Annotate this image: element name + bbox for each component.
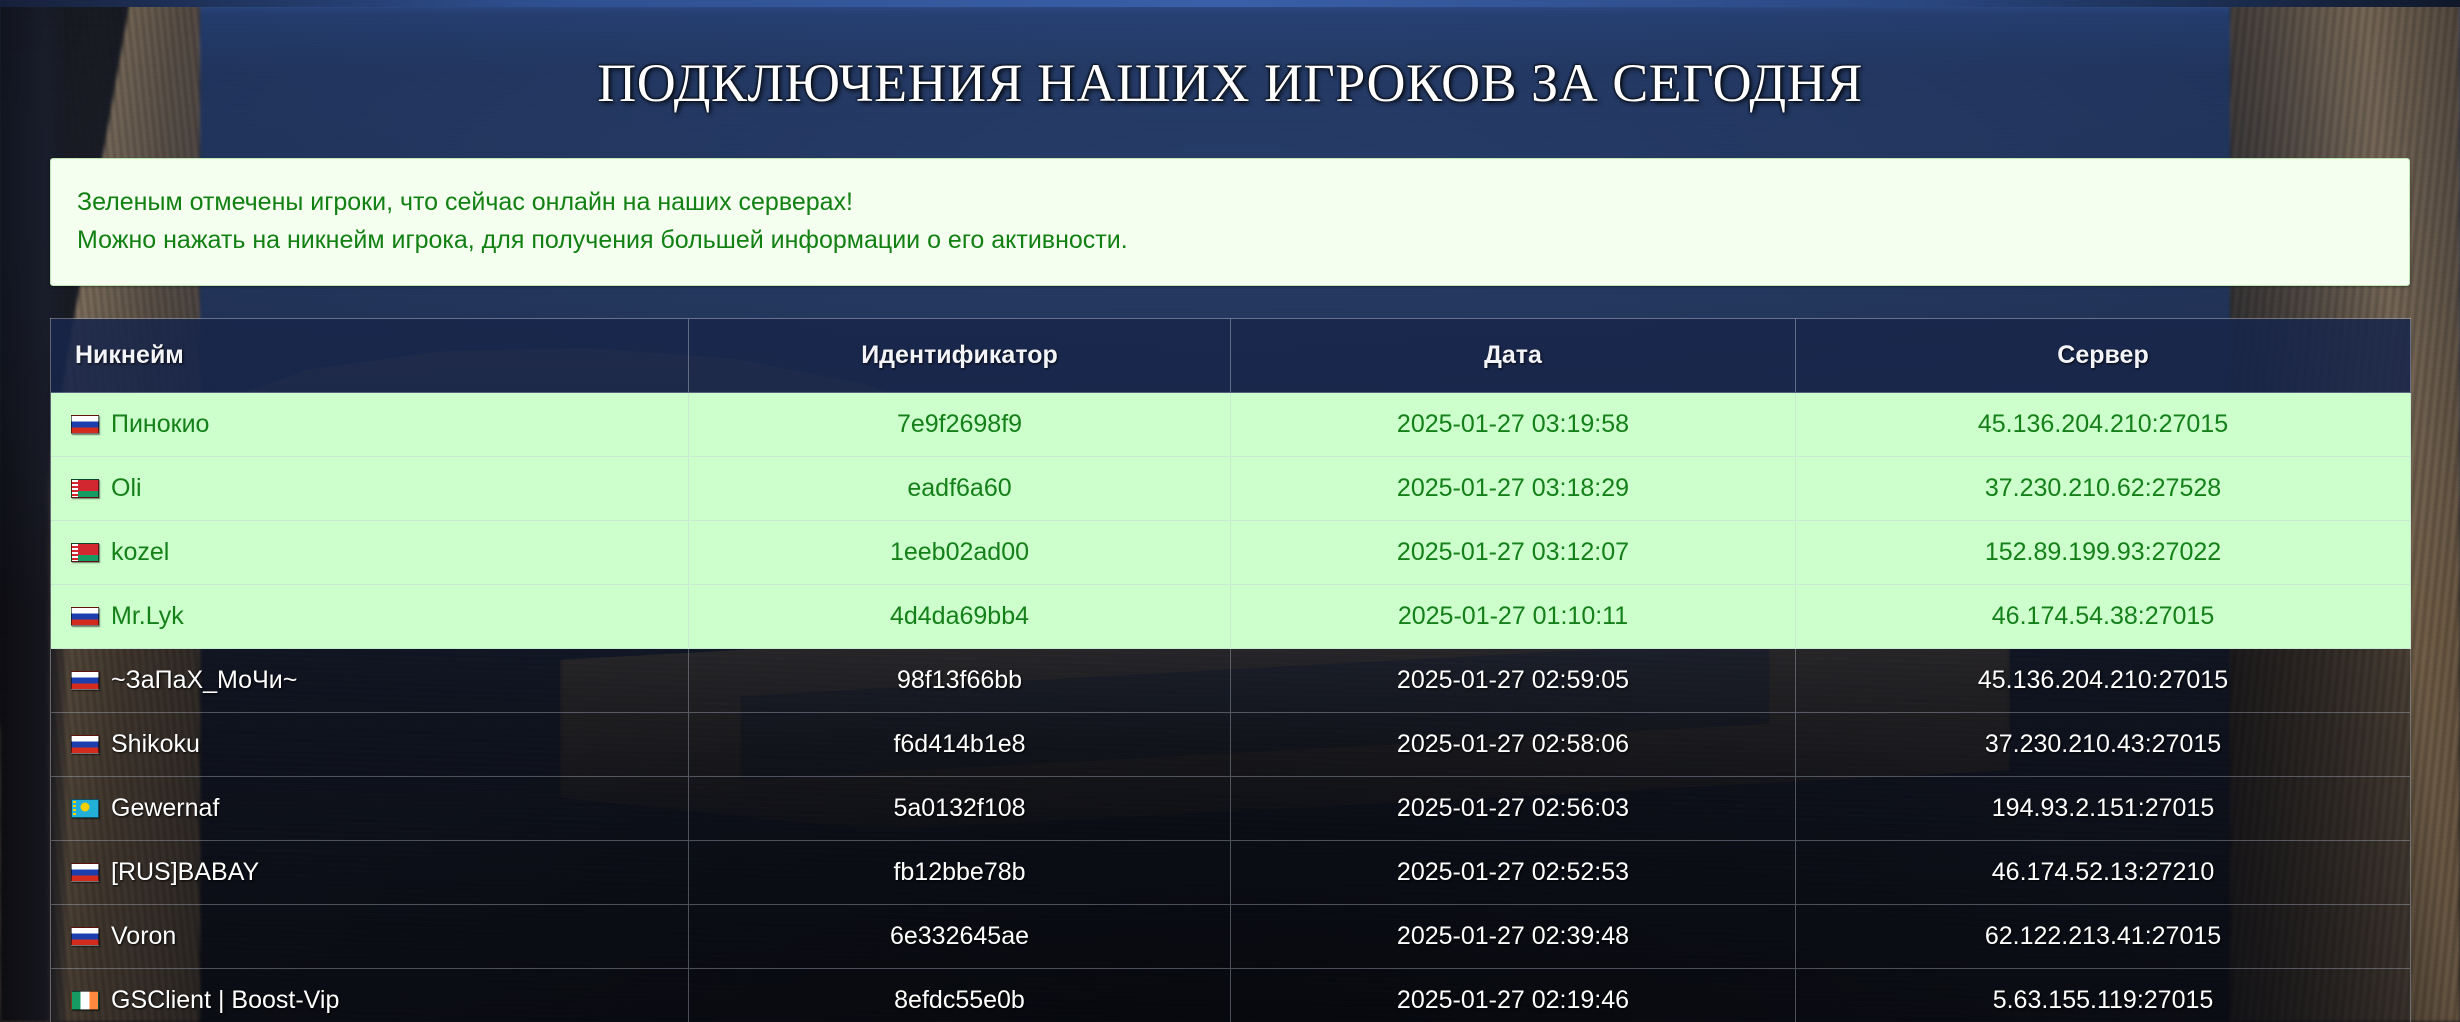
nickname-wrapper: Пинокио <box>71 410 664 439</box>
cell-date: 2025-01-27 02:19:46 <box>1231 969 1796 1022</box>
cell-date: 2025-01-27 03:18:29 <box>1231 457 1796 521</box>
cell-identifier: 98f13f66bb <box>689 649 1231 713</box>
cell-nickname: [RUS]BABAY <box>51 841 689 905</box>
cell-date: 2025-01-27 03:12:07 <box>1231 521 1796 585</box>
cell-identifier: 6e332645ae <box>689 905 1231 969</box>
player-nickname-link[interactable]: kozel <box>111 538 169 567</box>
table-row: kozel1eeb02ad002025-01-27 03:12:07152.89… <box>51 521 2411 585</box>
cell-nickname: Oli <box>51 457 689 521</box>
nickname-wrapper: kozel <box>71 538 664 567</box>
ie-flag-icon <box>71 991 99 1010</box>
nickname-wrapper: ~ЗаПаХ_МоЧи~ <box>71 666 664 695</box>
player-nickname-link[interactable]: [RUS]BABAY <box>111 858 259 887</box>
cell-server: 46.174.54.38:27015 <box>1796 585 2411 649</box>
column-header-date[interactable]: Дата <box>1231 319 1796 393</box>
cell-date: 2025-01-27 02:56:03 <box>1231 777 1796 841</box>
cell-date: 2025-01-27 02:39:48 <box>1231 905 1796 969</box>
cell-date: 2025-01-27 01:10:11 <box>1231 585 1796 649</box>
cell-server: 5.63.155.119:27015 <box>1796 969 2411 1022</box>
table-row: Olieadf6a602025-01-27 03:18:2937.230.210… <box>51 457 2411 521</box>
cell-server: 46.174.52.13:27210 <box>1796 841 2411 905</box>
player-nickname-link[interactable]: ~ЗаПаХ_МоЧи~ <box>111 666 297 695</box>
cell-identifier: 4d4da69bb4 <box>689 585 1231 649</box>
connections-table: Никнейм Идентификатор Дата Сервер Пиноки… <box>50 318 2411 1022</box>
nickname-wrapper: GSClient | Boost-Vip <box>71 986 664 1015</box>
nickname-wrapper: Voron <box>71 922 664 951</box>
cell-server: 62.122.213.41:27015 <box>1796 905 2411 969</box>
table-row: Gewernaf5a0132f1082025-01-27 02:56:03194… <box>51 777 2411 841</box>
cell-server: 194.93.2.151:27015 <box>1796 777 2411 841</box>
player-nickname-link[interactable]: Пинокио <box>111 410 209 439</box>
nickname-wrapper: Shikoku <box>71 730 664 759</box>
ru-flag-icon <box>71 927 99 946</box>
player-nickname-link[interactable]: Gewernaf <box>111 794 219 823</box>
cell-server: 37.230.210.62:27528 <box>1796 457 2411 521</box>
cell-identifier: 8efdc55e0b <box>689 969 1231 1022</box>
table-row: Shikokuf6d414b1e82025-01-27 02:58:0637.2… <box>51 713 2411 777</box>
cell-server: 45.136.204.210:27015 <box>1796 393 2411 457</box>
content-container: ПОДКЛЮЧЕНИЯ НАШИХ ИГРОКОВ ЗА СЕГОДНЯ Зел… <box>0 52 2460 1022</box>
alert-line-click-hint: Можно нажать на никнейм игрока, для полу… <box>77 221 2383 259</box>
cell-identifier: f6d414b1e8 <box>689 713 1231 777</box>
top-accent-bar <box>0 0 2460 7</box>
cell-server: 37.230.210.43:27015 <box>1796 713 2411 777</box>
table-row: Voron6e332645ae2025-01-27 02:39:4862.122… <box>51 905 2411 969</box>
cell-nickname: Gewernaf <box>51 777 689 841</box>
info-alert-box: Зеленым отмечены игроки, что сейчас онла… <box>50 158 2410 286</box>
cell-nickname: GSClient | Boost-Vip <box>51 969 689 1022</box>
table-header-row: Никнейм Идентификатор Дата Сервер <box>51 319 2411 393</box>
cell-identifier: 5a0132f108 <box>689 777 1231 841</box>
ru-flag-icon <box>71 415 99 434</box>
player-nickname-link[interactable]: Oli <box>111 474 142 503</box>
ru-flag-icon <box>71 671 99 690</box>
cell-identifier: 1eeb02ad00 <box>689 521 1231 585</box>
alert-line-online-legend: Зеленым отмечены игроки, что сейчас онла… <box>77 183 2383 221</box>
table-header: Никнейм Идентификатор Дата Сервер <box>51 319 2411 393</box>
table-row: Пинокио7e9f2698f92025-01-27 03:19:5845.1… <box>51 393 2411 457</box>
ru-flag-icon <box>71 607 99 626</box>
by-flag-icon <box>71 543 99 562</box>
player-nickname-link[interactable]: Shikoku <box>111 730 200 759</box>
cell-server: 152.89.199.93:27022 <box>1796 521 2411 585</box>
player-nickname-link[interactable]: GSClient | Boost-Vip <box>111 986 339 1015</box>
table-body: Пинокио7e9f2698f92025-01-27 03:19:5845.1… <box>51 393 2411 1022</box>
cell-server: 45.136.204.210:27015 <box>1796 649 2411 713</box>
cell-nickname: ~ЗаПаХ_МоЧи~ <box>51 649 689 713</box>
cell-nickname: Voron <box>51 905 689 969</box>
nickname-wrapper: [RUS]BABAY <box>71 858 664 887</box>
cell-nickname: Пинокио <box>51 393 689 457</box>
nickname-wrapper: Oli <box>71 474 664 503</box>
nickname-wrapper: Gewernaf <box>71 794 664 823</box>
table-row: GSClient | Boost-Vip8efdc55e0b2025-01-27… <box>51 969 2411 1022</box>
ru-flag-icon <box>71 735 99 754</box>
cell-date: 2025-01-27 02:59:05 <box>1231 649 1796 713</box>
cell-date: 2025-01-27 02:52:53 <box>1231 841 1796 905</box>
table-row: Mr.Lyk4d4da69bb42025-01-27 01:10:1146.17… <box>51 585 2411 649</box>
kz-flag-icon <box>71 799 99 818</box>
cell-nickname: Mr.Lyk <box>51 585 689 649</box>
cell-date: 2025-01-27 02:58:06 <box>1231 713 1796 777</box>
cell-identifier: eadf6a60 <box>689 457 1231 521</box>
table-row: [RUS]BABAYfb12bbe78b2025-01-27 02:52:534… <box>51 841 2411 905</box>
cell-identifier: 7e9f2698f9 <box>689 393 1231 457</box>
column-header-server[interactable]: Сервер <box>1796 319 2411 393</box>
column-header-nickname[interactable]: Никнейм <box>51 319 689 393</box>
player-nickname-link[interactable]: Mr.Lyk <box>111 602 184 631</box>
ru-flag-icon <box>71 863 99 882</box>
cell-nickname: Shikoku <box>51 713 689 777</box>
cell-identifier: fb12bbe78b <box>689 841 1231 905</box>
page-title: ПОДКЛЮЧЕНИЯ НАШИХ ИГРОКОВ ЗА СЕГОДНЯ <box>50 52 2410 114</box>
table-row: ~ЗаПаХ_МоЧи~98f13f66bb2025-01-27 02:59:0… <box>51 649 2411 713</box>
page-root: ПОДКЛЮЧЕНИЯ НАШИХ ИГРОКОВ ЗА СЕГОДНЯ Зел… <box>0 0 2460 1022</box>
cell-date: 2025-01-27 03:19:58 <box>1231 393 1796 457</box>
by-flag-icon <box>71 479 99 498</box>
column-header-identifier[interactable]: Идентификатор <box>689 319 1231 393</box>
nickname-wrapper: Mr.Lyk <box>71 602 664 631</box>
cell-nickname: kozel <box>51 521 689 585</box>
player-nickname-link[interactable]: Voron <box>111 922 176 951</box>
